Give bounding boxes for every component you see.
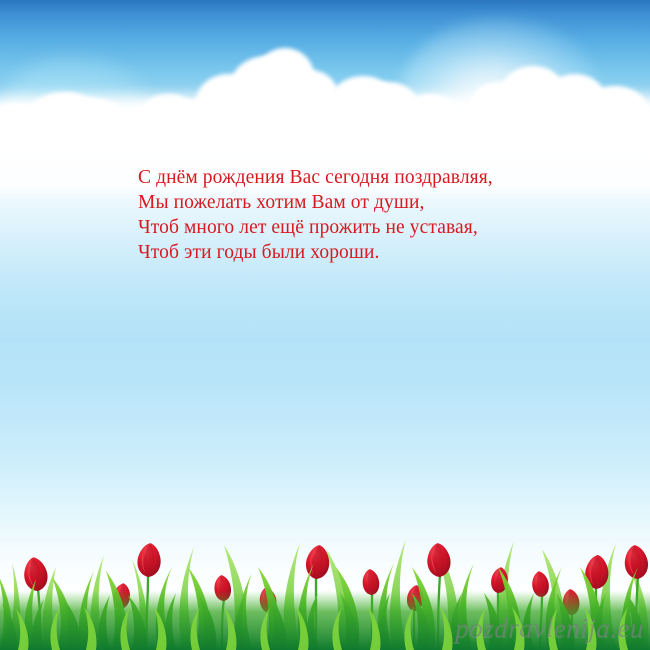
cloud-puff [22,92,108,158]
sun-glow [400,18,600,168]
cloud-puff [196,106,272,158]
cloud-puff [420,116,650,170]
cloud-puff [580,86,650,142]
cloud-puff [230,56,302,118]
cloud-puff [100,112,196,172]
cloud-puff [340,100,432,156]
cloud-puff [360,82,418,130]
cloud-puff [500,66,566,122]
cloud-puff [218,92,344,156]
cloud-puff [470,82,528,128]
cloud-puff [398,94,462,144]
cloud-puff [256,48,314,104]
cloud-puff [196,74,260,130]
sky-haze-left [0,55,150,165]
cloud-puff [282,70,338,120]
cloud-puff [544,74,606,126]
tulip-group [22,542,650,615]
cloud-puff [0,104,80,182]
cloud-puff [140,94,198,138]
cloud-puff [330,76,396,128]
cloud-puff [460,104,650,162]
greeting-text: С днём рождения Вас сегодня поздравляя, … [138,165,558,265]
greeting-card: С днём рождения Вас сегодня поздравляя, … [0,0,650,650]
site-watermark: pozdravlenija.eu [455,613,644,644]
cloud-puff [218,98,280,144]
cloud-puff [170,99,226,139]
cloud-puff [58,98,128,154]
